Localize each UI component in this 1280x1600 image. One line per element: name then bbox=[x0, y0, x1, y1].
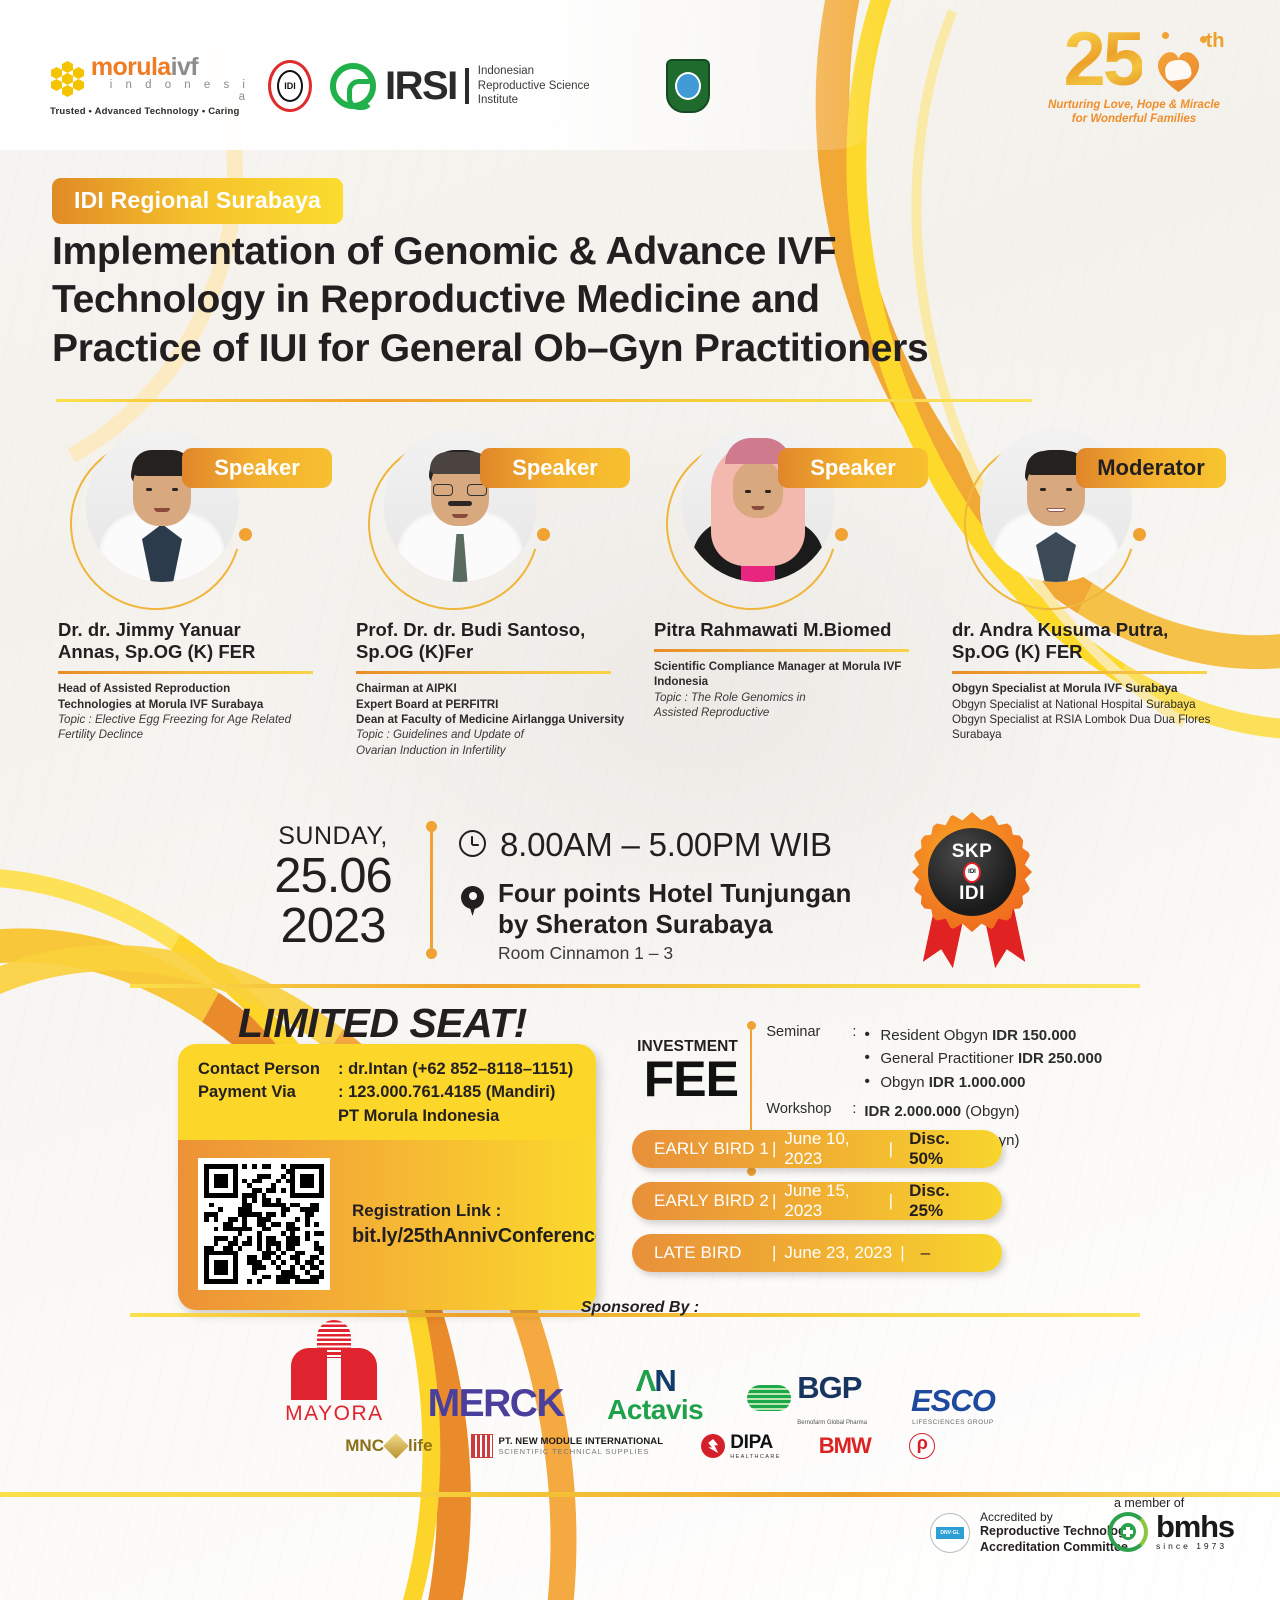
bgp-subtitle: Bernofarm Global Pharma bbox=[797, 1420, 867, 1426]
speaker-roles: Chairman at AIPKI Expert Board at PERFIT… bbox=[356, 681, 634, 727]
irsi-mark-icon bbox=[330, 63, 376, 109]
moderator-name: dr. Andra Kusuma Putra, Sp.OG (K) FER bbox=[952, 619, 1230, 663]
bird-separator: | bbox=[889, 1191, 893, 1211]
skp-label-top: SKP bbox=[952, 842, 993, 861]
registration-block: Registration Link : bit.ly/25thAnnivConf… bbox=[178, 1140, 596, 1310]
idi-regional-chip: IDI Regional Surabaya bbox=[52, 178, 343, 224]
speaker-topic-line1: Topic : Elective Egg Freezing for Age Re… bbox=[58, 712, 336, 727]
speaker-name-line1: Prof. Dr. dr. Budi Santoso, bbox=[356, 619, 634, 641]
speaker-role-line: Scientific Compliance Manager at Morula … bbox=[654, 659, 932, 674]
clock-icon bbox=[459, 830, 486, 857]
bmhs-block: a member of bmhs since 1973 bbox=[1108, 1496, 1234, 1552]
sponsor-dipa-healthcare: DIPA HEALTHCARE bbox=[701, 1432, 781, 1460]
payment-label: Payment Via bbox=[198, 1081, 338, 1104]
speaker-role-line: Head of Assisted Reproduction bbox=[58, 681, 336, 696]
speaker-divider bbox=[356, 671, 611, 674]
bmw-wordmark: BMW bbox=[819, 1433, 871, 1459]
mayora-wordmark: MAYORA bbox=[285, 1402, 383, 1426]
bmhs-mark-icon bbox=[1108, 1512, 1148, 1552]
bird-name: LATE BIRD bbox=[654, 1243, 772, 1263]
fee-row-workshop: Workshop : IDR 2.000.000 (Obgyn) bbox=[766, 1101, 1102, 1124]
fee-bullet-text: Obgyn bbox=[880, 1074, 928, 1091]
moderator-role-badge: Moderator bbox=[1076, 448, 1226, 488]
speaker-name-line1: Pitra Rahmawati M.Biomed bbox=[654, 619, 932, 641]
anniversary-number: 25 bbox=[1064, 28, 1143, 93]
speaker-name: Pitra Rahmawati M.Biomed bbox=[654, 619, 932, 641]
sponsor-merck: MERCK bbox=[428, 1382, 564, 1426]
bird-separator: | bbox=[900, 1243, 904, 1263]
limited-seat-heading: LIMITED SEAT! bbox=[238, 1000, 527, 1047]
mayora-mark-icon bbox=[291, 1320, 377, 1400]
bird-date: June 15, 2023 bbox=[784, 1181, 880, 1221]
fee-bullet-amount: IDR 1.000.000 bbox=[929, 1074, 1026, 1091]
speaker-photo-1: Speaker bbox=[70, 430, 260, 605]
moderator-role-line: Surabaya bbox=[952, 727, 1230, 742]
event-day: SUNDAY, bbox=[258, 822, 408, 851]
contact-card: Contact Person : dr.Intan (+62 852–8118–… bbox=[178, 1044, 596, 1310]
speaker-topic: Topic : Elective Egg Freezing for Age Re… bbox=[58, 712, 336, 743]
esco-subtitle: LIFESCIENCES GROUP bbox=[912, 1419, 994, 1426]
anniversary-tagline: Nurturing Love, Hope & Miracle for Wonde… bbox=[1034, 98, 1234, 127]
sponsor-bgp: BGP Bernofarm Global Pharma bbox=[747, 1370, 867, 1426]
speaker-name-line2: Annas, Sp.OG (K) FER bbox=[58, 641, 336, 663]
early-bird-list: EARLY BIRD 1 | June 10, 2023 | Disc. 50%… bbox=[632, 1130, 1002, 1286]
contact-person-row: Contact Person : dr.Intan (+62 852–8118–… bbox=[198, 1058, 576, 1081]
speaker-role-line: Dean at Faculty of Medicine Airlangga Un… bbox=[356, 712, 634, 727]
morula-ivf-logo: morulaivf i n d o n e s i a Trusted • Ad… bbox=[50, 55, 250, 117]
bird-discount: Disc. 50% bbox=[909, 1129, 980, 1169]
speaker-photo-2: Speaker bbox=[368, 430, 558, 605]
contact-details: Contact Person : dr.Intan (+62 852–8118–… bbox=[178, 1044, 596, 1140]
event-time: 8.00AM – 5.00PM WIB bbox=[500, 826, 832, 864]
speaker-name: Prof. Dr. dr. Budi Santoso, Sp.OG (K)Fer bbox=[356, 619, 634, 663]
sponsor-mayora: MAYORA bbox=[285, 1320, 383, 1426]
speaker-roles: Scientific Compliance Manager at Morula … bbox=[654, 659, 932, 690]
dnv-gl-label: DNV·GL bbox=[936, 1527, 964, 1539]
speaker-name: Dr. dr. Jimmy Yanuar Annas, Sp.OG (K) FE… bbox=[58, 619, 336, 663]
moderator-role-line: Obgyn Specialist at National Hospital Su… bbox=[952, 697, 1230, 712]
event-room: Room Cinnamon 1 – 3 bbox=[498, 943, 851, 964]
speaker-topic-line2: Fertility Declince bbox=[58, 727, 336, 742]
heart-hands-icon bbox=[1153, 46, 1205, 94]
speaker-topic-line2: Assisted Reproductive bbox=[654, 705, 932, 720]
fee-colon: : bbox=[852, 1024, 864, 1040]
payment-account-row: PT Morula Indonesia bbox=[198, 1105, 576, 1128]
bird-date: June 10, 2023 bbox=[784, 1129, 880, 1169]
title-line-3: Practice of IUI for General Ob–Gyn Pract… bbox=[52, 325, 1062, 373]
moderator-card: Moderator dr. Andra Kusuma Putra, Sp.OG … bbox=[942, 430, 1240, 758]
moderator-photo: Moderator bbox=[964, 430, 1154, 605]
fee-suffix: (Obgyn) bbox=[961, 1103, 1019, 1120]
morula-word-1: morula bbox=[91, 53, 171, 81]
partner-logo-row: morulaivf i n d o n e s i a Trusted • Ad… bbox=[50, 55, 710, 117]
early-bird-1-row: EARLY BIRD 1 | June 10, 2023 | Disc. 50% bbox=[632, 1130, 1002, 1168]
moderator-role-line: Obgyn Specialist at Morula IVF Surabaya bbox=[952, 681, 1230, 696]
speaker-role-line: Expert Board at PERFITRI bbox=[356, 697, 634, 712]
sponsor-row-primary: MAYORA MERCK ΛΝ Actavis BGP Bernofarm Gl… bbox=[0, 1320, 1280, 1426]
speaker-topic-line1: Topic : The Role Genomics in bbox=[654, 690, 932, 705]
moderator-roles: Obgyn Specialist at Morula IVF Surabaya … bbox=[952, 681, 1230, 742]
sponsor-mnc-life: MNC life bbox=[345, 1436, 432, 1456]
sponsored-by-heading: Sponsored By : bbox=[0, 1299, 1280, 1317]
speaker-card: Speaker Prof. Dr. dr. Budi Santoso, Sp.O… bbox=[346, 430, 644, 758]
speaker-topic-line2: Ovarian Induction in Infertility bbox=[356, 743, 634, 758]
bgp-mark-icon bbox=[747, 1385, 791, 1411]
title-line-2: Technology in Reproductive Medicine and bbox=[52, 276, 1062, 324]
fee-word: FEE bbox=[630, 1056, 738, 1102]
dnv-gl-seal-icon: DNV·GL bbox=[930, 1513, 970, 1553]
irsi-wordmark: IRSI bbox=[385, 68, 469, 104]
fee-value: IDR 2.000.000 (Obgyn) bbox=[864, 1101, 1019, 1124]
speaker-name-line2: Sp.OG (K)Fer bbox=[356, 641, 634, 663]
section-divider-middle bbox=[130, 984, 1140, 988]
bird-separator: | bbox=[772, 1243, 776, 1263]
speaker-name-line1: Dr. dr. Jimmy Yanuar bbox=[58, 619, 336, 641]
anniversary-ordinal: th bbox=[1206, 30, 1225, 53]
location-pin-icon bbox=[461, 886, 484, 918]
pnmi-subtitle: SCIENTIFIC TECHNICAL SUPPLIES bbox=[499, 1447, 664, 1456]
accreditation-block: DNV·GL Accredited by Reproductive Techno… bbox=[930, 1510, 1133, 1555]
fee-colon: : bbox=[852, 1101, 864, 1117]
speaker-topic-line1: Topic : Guidelines and Update of bbox=[356, 727, 634, 742]
registration-link-label: Registration Link : bbox=[352, 1201, 596, 1221]
event-venue-row: Four points Hotel Tunjungan by Sheraton … bbox=[459, 878, 851, 964]
fee-bullet-item: General Practitioner IDR 250.000 bbox=[864, 1047, 1102, 1070]
bird-name: EARLY BIRD 2 bbox=[654, 1191, 772, 1211]
event-venue-line2: by Sheraton Surabaya bbox=[498, 909, 851, 940]
bgp-wordmark: BGP bbox=[797, 1370, 867, 1406]
bird-separator: | bbox=[889, 1139, 893, 1159]
esco-wordmark: ESCO bbox=[911, 1383, 995, 1419]
idi-logo-label: IDI bbox=[277, 70, 303, 102]
pogi-logo bbox=[666, 59, 710, 113]
speakers-section: Speaker Dr. dr. Jimmy Yanuar Annas, Sp.O… bbox=[48, 430, 1240, 758]
diamond-icon bbox=[383, 1433, 408, 1458]
fee-bullet-amount: IDR 250.000 bbox=[1018, 1050, 1102, 1067]
event-info-block: 8.00AM – 5.00PM WIB Four points Hotel Tu… bbox=[459, 816, 851, 964]
speaker-role-line: Chairman at AIPKI bbox=[356, 681, 634, 696]
idi-mini-icon: IDI bbox=[963, 862, 981, 883]
bird-discount: Disc. 25% bbox=[909, 1181, 980, 1221]
early-bird-2-row: EARLY BIRD 2 | June 15, 2023 | Disc. 25% bbox=[632, 1182, 1002, 1220]
speaker-photo-3: Speaker bbox=[666, 430, 856, 605]
speaker-role-badge: Speaker bbox=[778, 448, 928, 488]
speaker-role-badge: Speaker bbox=[480, 448, 630, 488]
morula-word-2: ivf bbox=[171, 53, 198, 81]
morula-tagline: Trusted • Advanced Technology • Caring bbox=[50, 106, 250, 117]
photo-dot-decor bbox=[1133, 528, 1146, 541]
sponsor-esco: ESCO LIFESCIENCES GROUP bbox=[911, 1383, 995, 1426]
dipa-subtitle: HEALTHCARE bbox=[730, 1454, 781, 1460]
poster-root: morulaivf i n d o n e s i a Trusted • Ad… bbox=[0, 0, 1280, 1600]
photo-dot-decor bbox=[239, 528, 252, 541]
irsi-sub-line3: Institute bbox=[478, 93, 590, 107]
speaker-topic: Topic : The Role Genomics in Assisted Re… bbox=[654, 690, 932, 721]
sponsor-row-secondary: MNC life PT. NEW MODULE INTERNATIONAL SC… bbox=[0, 1432, 1280, 1460]
event-year: 2023 bbox=[258, 901, 408, 951]
irsi-logo: IRSI Indonesian Reproductive Science Ins… bbox=[330, 63, 590, 109]
bird-name: EARLY BIRD 1 bbox=[654, 1139, 772, 1159]
bird-date: June 23, 2023 bbox=[784, 1243, 892, 1263]
bird-separator: | bbox=[772, 1139, 776, 1159]
speaker-roles: Head of Assisted Reproduction Technologi… bbox=[58, 681, 336, 712]
event-date: 25.06 bbox=[258, 851, 408, 901]
event-time-row: 8.00AM – 5.00PM WIB bbox=[459, 826, 851, 864]
footer-divider bbox=[0, 1492, 1280, 1497]
skp-disc: SKP IDI IDI bbox=[928, 828, 1016, 916]
payment-value: : 123.000.761.4185 (Mandiri) bbox=[338, 1081, 555, 1104]
contact-person-label: Contact Person bbox=[198, 1058, 338, 1081]
speaker-role-badge: Speaker bbox=[182, 448, 332, 488]
irsi-sub-line1: Indonesian bbox=[478, 64, 590, 78]
idi-logo: IDI bbox=[268, 60, 312, 112]
mnc-wordmark: MNC bbox=[345, 1436, 384, 1456]
photo-dot-decor bbox=[537, 528, 550, 541]
pnmi-name: PT. NEW MODULE INTERNATIONAL bbox=[499, 1436, 664, 1447]
dipa-wordmark: DIPA bbox=[730, 1432, 781, 1454]
contact-person-value: : dr.Intan (+62 852–8118–1151) bbox=[338, 1058, 573, 1081]
page-title: Implementation of Genomic & Advance IVF … bbox=[52, 228, 1062, 373]
bmhs-since: since 1973 bbox=[1156, 1541, 1234, 1551]
fee-bullet-text: Resident Obgyn bbox=[880, 1027, 992, 1044]
fee-bullet-text: General Practitioner bbox=[880, 1050, 1018, 1067]
fee-row-seminar: Seminar : Resident Obgyn IDR 150.000 Gen… bbox=[766, 1024, 1102, 1094]
honeycomb-icon bbox=[50, 61, 86, 97]
speaker-role-line: Technologies at Morula IVF Surabaya bbox=[58, 697, 336, 712]
photo-dot-decor bbox=[835, 528, 848, 541]
late-bird-row: LATE BIRD | June 23, 2023 | – bbox=[632, 1234, 1002, 1272]
event-details: SUNDAY, 25.06 2023 8.00AM – 5.00PM WIB F… bbox=[258, 816, 851, 964]
speaker-role-line: Indonesia bbox=[654, 674, 932, 689]
bird-discount: – bbox=[921, 1243, 930, 1263]
irsi-sub-line2: Reproductive Science bbox=[478, 79, 590, 93]
mnc-life-word: life bbox=[408, 1436, 433, 1456]
fee-bullet-amount: IDR 150.000 bbox=[992, 1027, 1076, 1044]
moderator-divider bbox=[952, 671, 1207, 674]
title-line-1: Implementation of Genomic & Advance IVF bbox=[52, 228, 1062, 276]
sponsor-actavis: ΛΝ Actavis bbox=[607, 1363, 703, 1426]
member-of-label: a member of bbox=[1114, 1496, 1234, 1510]
fee-bullet-list: Resident Obgyn IDR 150.000 General Pract… bbox=[864, 1024, 1102, 1094]
investment-fee-heading: INVESTMENT FEE bbox=[630, 1020, 738, 1102]
registration-link[interactable]: bit.ly/25thAnnivConference bbox=[352, 1225, 596, 1248]
speaker-divider bbox=[58, 671, 313, 674]
bird-separator: | bbox=[772, 1191, 776, 1211]
fee-bullet-item: Resident Obgyn IDR 150.000 bbox=[864, 1024, 1102, 1047]
moderator-role-line: Obgyn Specialist at RSIA Lombok Dua Dua … bbox=[952, 712, 1230, 727]
bmhs-wordmark: bmhs bbox=[1156, 1513, 1234, 1541]
irsi-subtitle: Indonesian Reproductive Science Institut… bbox=[478, 64, 590, 107]
fee-bullet-item: Obgyn IDR 1.000.000 bbox=[864, 1071, 1102, 1094]
pnmi-mark-icon bbox=[471, 1434, 493, 1458]
dipa-mark-icon bbox=[701, 1434, 725, 1458]
skp-label-bottom: IDI bbox=[959, 884, 985, 903]
speaker-topic: Topic : Guidelines and Update of Ovarian… bbox=[356, 727, 634, 758]
fee-amount: IDR 2.000.000 bbox=[864, 1103, 961, 1120]
sponsor-p-logo bbox=[909, 1433, 935, 1459]
moderator-name-line2: Sp.OG (K) FER bbox=[952, 641, 1230, 663]
qr-code[interactable] bbox=[198, 1158, 330, 1290]
actavis-wordmark: Actavis bbox=[607, 1394, 703, 1426]
fee-key: Workshop bbox=[766, 1101, 852, 1118]
sponsor-pt-new-module-international: PT. NEW MODULE INTERNATIONAL SCIENTIFIC … bbox=[471, 1434, 664, 1458]
fee-key: Seminar bbox=[766, 1024, 852, 1041]
speaker-divider bbox=[654, 649, 909, 652]
speaker-card: Speaker Pitra Rahmawati M.Biomed Scienti… bbox=[644, 430, 942, 758]
morula-subtitle: i n d o n e s i a bbox=[91, 79, 250, 103]
speaker-card: Speaker Dr. dr. Jimmy Yanuar Annas, Sp.O… bbox=[48, 430, 346, 758]
moderator-name-line1: dr. Andra Kusuma Putra, bbox=[952, 619, 1230, 641]
anniversary-logo: 25 th Nurturing Love, Hope & Miracle for… bbox=[1034, 28, 1234, 127]
payment-row: Payment Via : 123.000.761.4185 (Mandiri) bbox=[198, 1081, 576, 1104]
event-date-block: SUNDAY, 25.06 2023 bbox=[258, 816, 408, 952]
event-venue-line1: Four points Hotel Tunjungan bbox=[498, 878, 851, 909]
pogi-emblem-icon bbox=[675, 72, 701, 100]
sponsor-bmw: BMW bbox=[819, 1433, 871, 1459]
skp-idi-badge: SKP IDI IDI bbox=[898, 806, 1048, 966]
anniversary-tagline-line2: for Wonderful Families bbox=[1034, 112, 1234, 126]
payment-account-name: PT Morula Indonesia bbox=[338, 1105, 499, 1128]
title-divider bbox=[56, 399, 1032, 402]
event-divider bbox=[430, 828, 433, 952]
